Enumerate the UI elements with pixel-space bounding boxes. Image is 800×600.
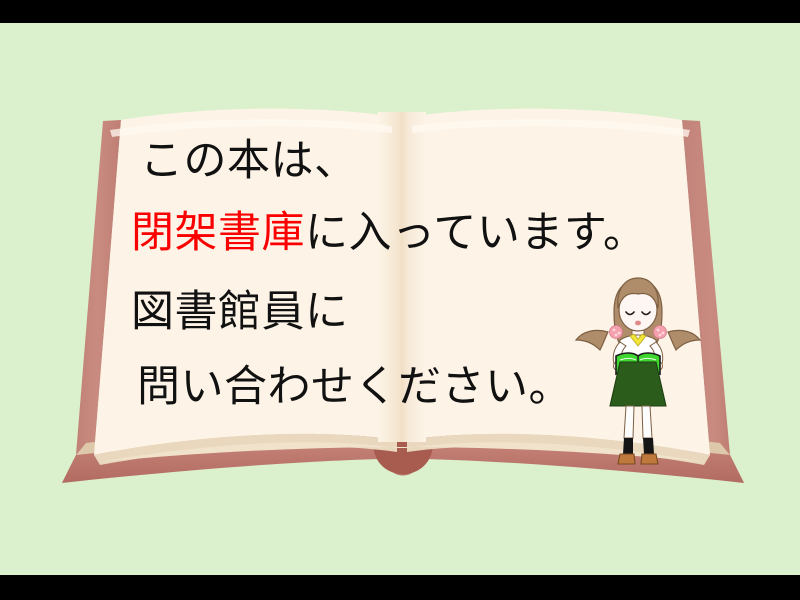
- letterbox-bar-bottom: [0, 575, 800, 600]
- notice-line-2: 閉架書庫に入っています。: [131, 198, 647, 260]
- notice-line-1: この本は、: [140, 126, 358, 188]
- notice-highlight-closed-stacks: 閉架書庫: [131, 208, 305, 258]
- notice-line-3: 図書館員に: [131, 277, 349, 339]
- letterbox-bar-top: [0, 0, 800, 23]
- notice-text-block: この本は、 閉架書庫に入っています。 図書館員に 問い合わせください。: [0, 0, 800, 600]
- screenshot-stage: この本は、 閉架書庫に入っています。 図書館員に 問い合わせください。: [0, 0, 800, 600]
- notice-line-4: 問い合わせください。: [137, 352, 572, 414]
- notice-line-2-rest: に入っています。: [305, 208, 647, 258]
